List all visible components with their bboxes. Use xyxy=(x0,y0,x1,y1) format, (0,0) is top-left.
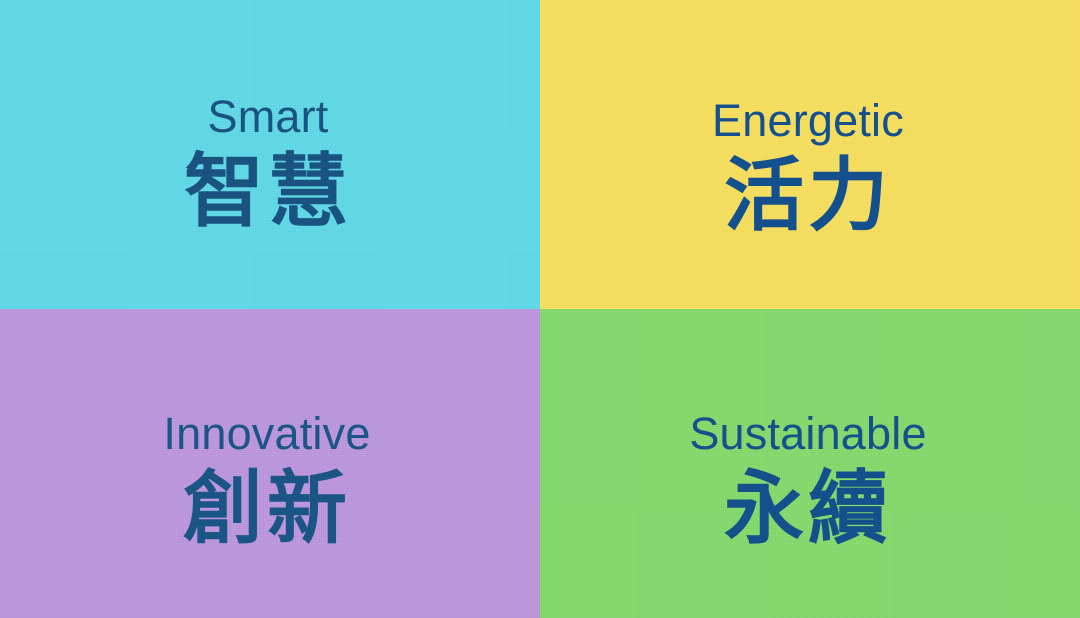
brand-values-grid: Smart 智慧 Energetic 活力 Innovative 創新 Sust… xyxy=(0,0,1080,618)
quadrant-innovative-chinese-label: 創新 xyxy=(183,466,351,552)
quadrant-sustainable-chinese-label: 永續 xyxy=(724,466,892,552)
quadrant-energetic-chinese-label: 活力 xyxy=(724,153,892,239)
quadrant-energetic[interactable]: Energetic 活力 xyxy=(540,0,1080,309)
quadrant-smart-chinese-label: 智慧 xyxy=(184,149,352,235)
quadrant-smart-english-label: Smart xyxy=(207,94,328,139)
label-stack-energetic: Energetic 活力 xyxy=(712,98,904,239)
quadrant-sustainable-english-label: Sustainable xyxy=(689,411,926,456)
label-stack-smart: Smart 智慧 xyxy=(184,94,352,235)
quadrant-energetic-english-label: Energetic xyxy=(712,98,904,143)
label-stack-sustainable: Sustainable 永續 xyxy=(689,411,926,552)
quadrant-innovative[interactable]: Innovative 創新 xyxy=(0,309,540,618)
quadrant-smart[interactable]: Smart 智慧 xyxy=(0,0,540,309)
quadrant-innovative-english-label: Innovative xyxy=(163,411,370,456)
quadrant-sustainable[interactable]: Sustainable 永續 xyxy=(540,309,1080,618)
label-stack-innovative: Innovative 創新 xyxy=(163,411,370,552)
